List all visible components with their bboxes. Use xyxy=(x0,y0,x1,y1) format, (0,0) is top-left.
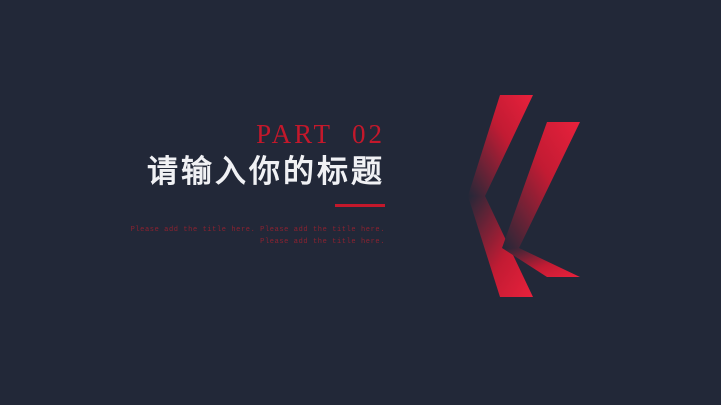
subtitle-line-2: Please add the title here. xyxy=(60,236,385,248)
subtitle-line-1: Please add the title here. Please add th… xyxy=(60,224,385,236)
inner-chevron-upper-arm xyxy=(502,122,580,248)
chevron-svg xyxy=(455,70,635,320)
part-label: PART 02 xyxy=(60,120,385,148)
title-underline-rule xyxy=(335,204,385,207)
page-title: 请输入你的标题 xyxy=(60,152,385,192)
subtitle-text: Please add the title here. Please add th… xyxy=(60,224,385,249)
outer-chevron-upper-arm xyxy=(468,95,533,196)
double-chevron-left-graphic xyxy=(455,70,635,320)
title-text-block: PART 02 请输入你的标题 Please add the title her… xyxy=(60,120,385,248)
slide-canvas: PART 02 请输入你的标题 Please add the title her… xyxy=(0,0,721,405)
